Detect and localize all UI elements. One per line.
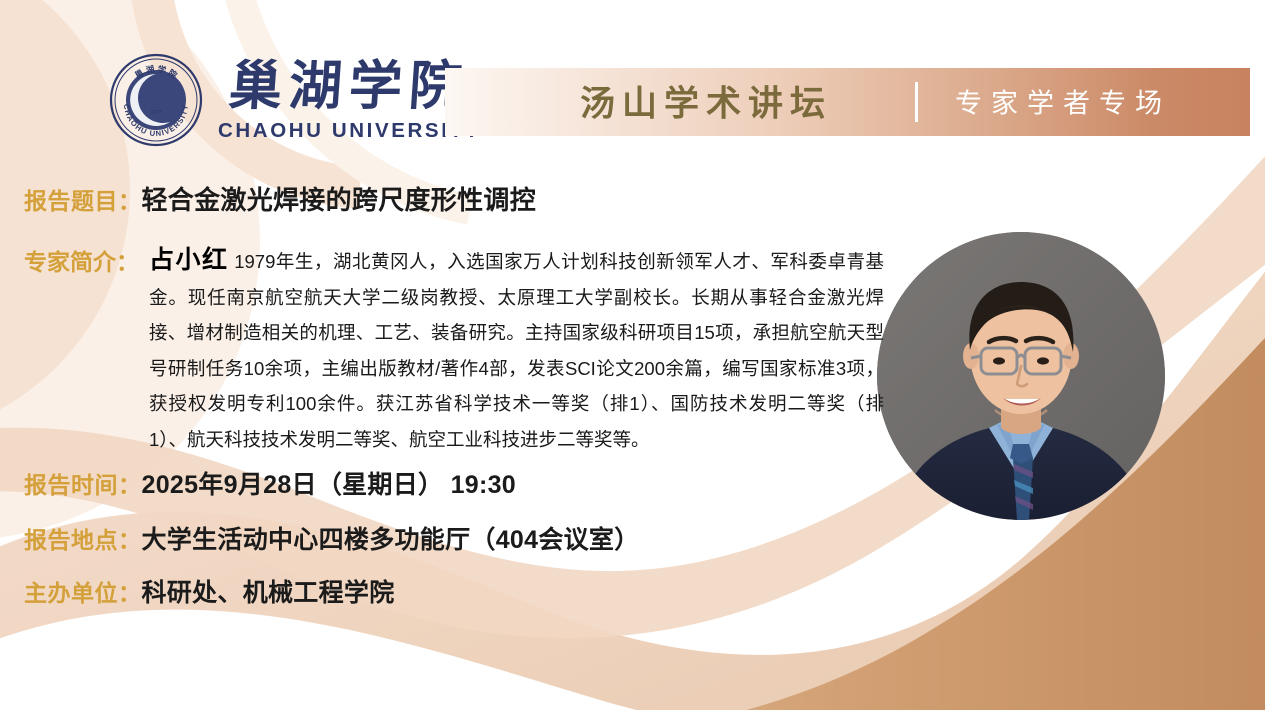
field-place-row: 报告地点： 大学生活动中心四楼多功能厅（404会议室）	[24, 520, 640, 556]
time-value: 2025年9月28日（星期日） 19:30	[142, 465, 517, 501]
time-label: 报告时间：	[24, 466, 142, 500]
field-host-row: 主办单位： 科研处、机械工程学院	[24, 573, 395, 609]
bio-label: 专家简介：	[24, 243, 139, 277]
place-value: 大学生活动中心四楼多功能厅（404会议室）	[142, 520, 640, 556]
title-value: 轻合金激光焊接的跨尺度形性调控	[142, 180, 537, 217]
speaker-name: 占小红	[149, 246, 229, 274]
host-value: 科研处、机械工程学院	[142, 573, 395, 609]
poster-root: 1977 巢 湖 学 院 CHAOHU UNIVERSITY 巢湖学院 CHAO…	[0, 0, 1265, 710]
field-title-row: 报告题目： 轻合金激光焊接的跨尺度形性调控	[24, 180, 536, 217]
host-label: 主办单位：	[24, 574, 142, 608]
field-bio-row: 专家简介： 占小红 1979年生，湖北黄冈人，入选国家万人计划科技创新领军人才、…	[24, 243, 884, 457]
bio-text: 1979年生，湖北黄冈人，入选国家万人计划科技创新领军人才、军科委卓青基金。现任…	[149, 251, 884, 450]
poster-content: 报告题目： 轻合金激光焊接的跨尺度形性调控 专家简介： 占小红 1979年生，湖…	[0, 0, 1265, 710]
field-time-row: 报告时间： 2025年9月28日（星期日） 19:30	[24, 465, 516, 501]
bio-body: 占小红 1979年生，湖北黄冈人，入选国家万人计划科技创新领军人才、军科委卓青基…	[149, 243, 884, 457]
title-label: 报告题目：	[24, 182, 142, 216]
place-label: 报告地点：	[24, 521, 142, 555]
